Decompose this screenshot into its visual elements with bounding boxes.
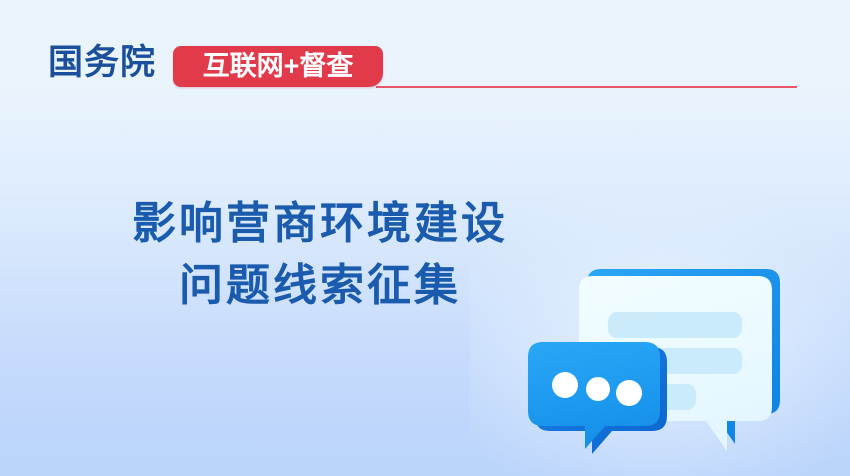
state-council-brand: 国务院 [48,43,156,83]
banner-header: 国务院 互联网+督查 [0,0,850,110]
front-bubble-dot-3 [616,380,642,406]
back-bubble-text-bar-1 [608,312,742,338]
front-bubble-dot-1 [552,372,578,398]
front-speech-bubble [528,342,667,454]
header-divider-rule [376,86,797,88]
front-bubble-dot-2 [586,377,610,401]
internet-plus-supervision-badge[interactable]: 互联网+督查 [173,46,383,87]
speech-bubbles-svg [500,230,850,476]
two-speech-bubbles-illustration [500,230,850,476]
government-campaign-banner: 国务院 互联网+督查 影响营商环境建设 问题线索征集 [0,0,850,476]
badge-label: 互联网+督查 [173,46,383,87]
